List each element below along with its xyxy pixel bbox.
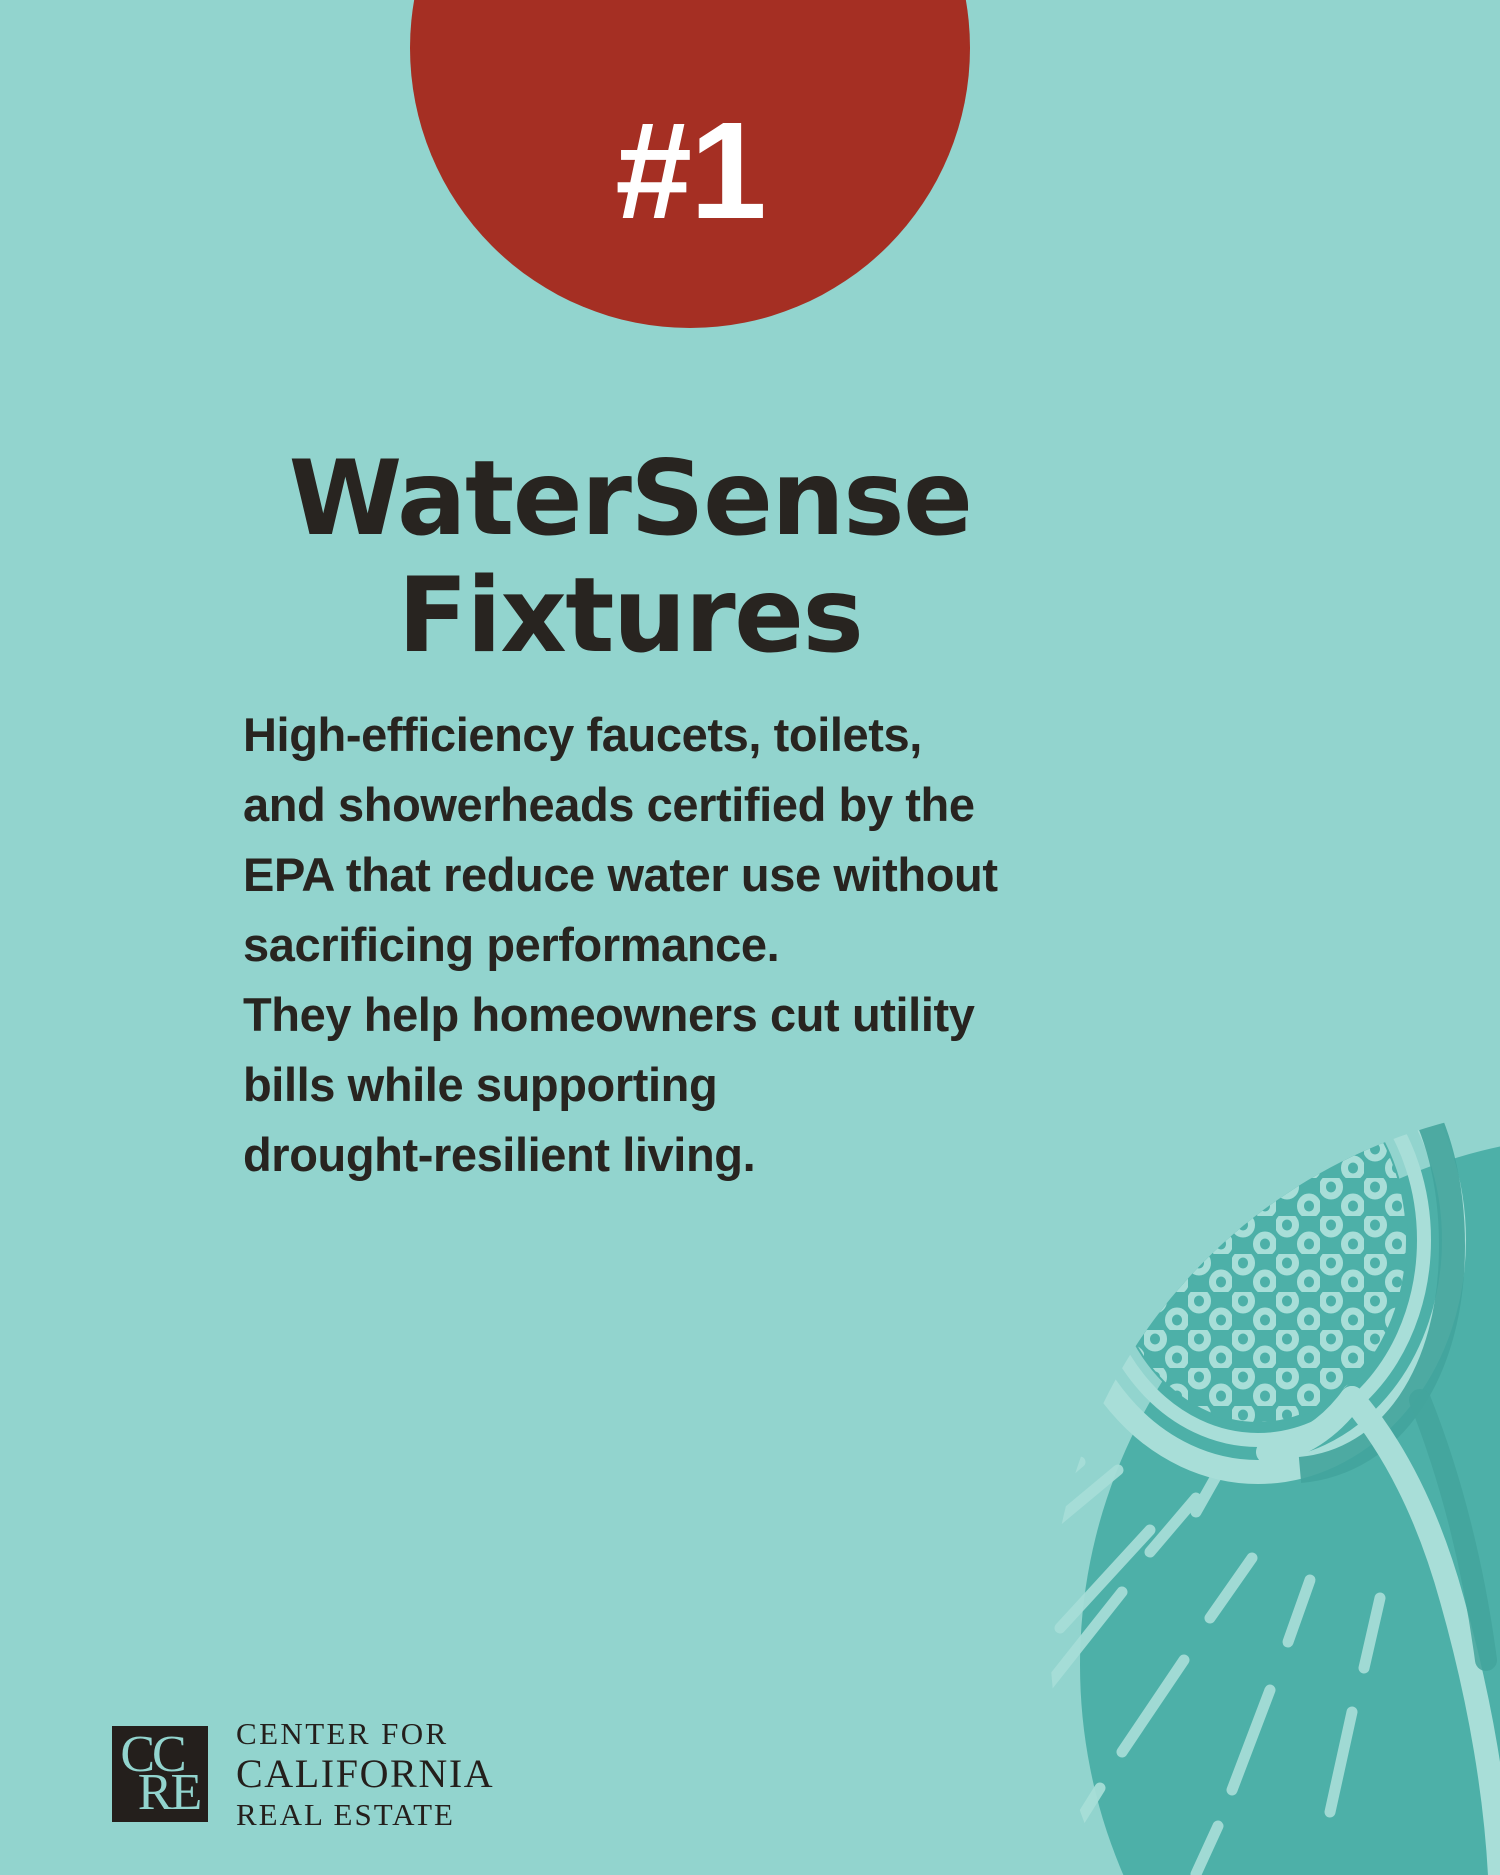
body-line: bills while supporting — [243, 1050, 1033, 1120]
page-title: WaterSense Fixtures — [0, 441, 1260, 676]
brand-logo: CC RE CENTER FOR CALIFORNIA REAL ESTATE — [112, 1716, 494, 1832]
poster-canvas: #1 WaterSense Fixtures High-efficiency f… — [0, 0, 1500, 1875]
decorative-circle — [1080, 1135, 1500, 1875]
page-title-line-1: WaterSense — [289, 439, 972, 559]
page-title-line-2: Fixtures — [0, 558, 1260, 675]
brand-wordmark-line-1: CENTER FOR — [236, 1716, 494, 1751]
brand-wordmark-line-3: REAL ESTATE — [236, 1797, 494, 1832]
rank-badge-label: #1 — [615, 102, 765, 328]
body-line: They help homeowners cut utility — [243, 980, 1033, 1050]
body-copy: High-efficiency faucets, toilets, and sh… — [243, 700, 1033, 1190]
body-line: High-efficiency faucets, toilets, — [243, 700, 1033, 770]
rank-badge: #1 — [410, 0, 970, 328]
brand-wordmark: CENTER FOR CALIFORNIA REAL ESTATE — [236, 1716, 494, 1832]
body-line: EPA that reduce water use without — [243, 840, 1033, 910]
body-line: drought-resilient living. — [243, 1120, 1033, 1190]
body-line: and showerheads certified by the — [243, 770, 1033, 840]
monogram-bottom: RE — [138, 1772, 200, 1815]
ccre-monogram-icon: CC RE — [112, 1726, 208, 1822]
body-line: sacrificing performance. — [243, 910, 1033, 980]
brand-wordmark-line-2: CALIFORNIA — [236, 1751, 494, 1797]
